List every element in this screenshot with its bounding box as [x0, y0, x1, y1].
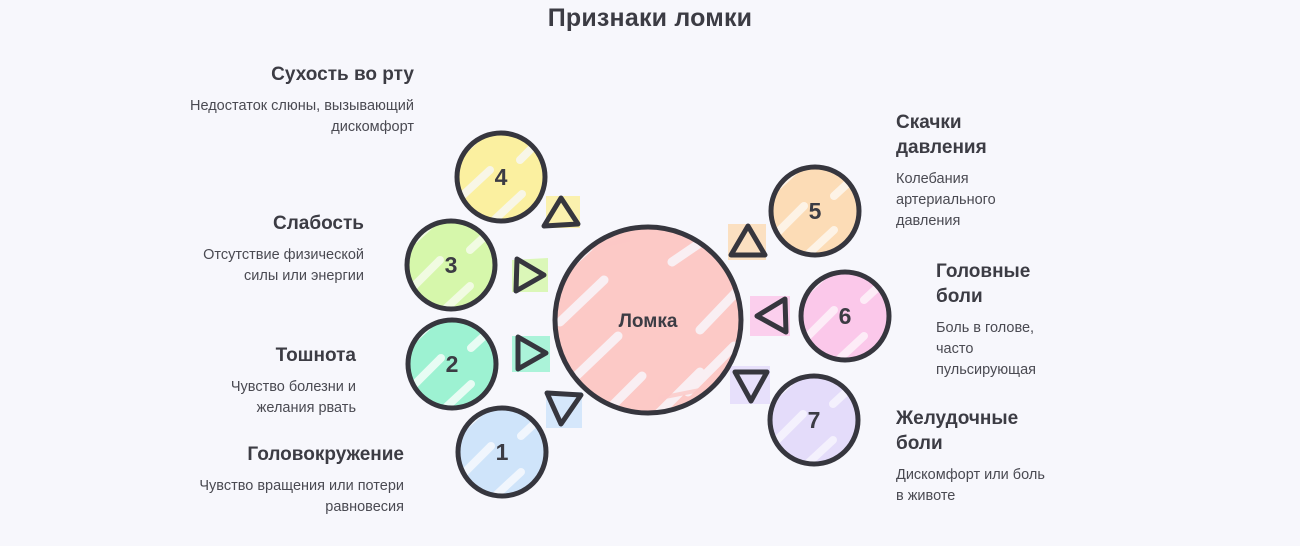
node-number: 1: [496, 439, 509, 465]
center-label: Ломка: [619, 311, 678, 332]
node-number: 5: [809, 198, 822, 224]
node-number: 3: [445, 252, 458, 278]
node-circle-6[interactable]: 6: [801, 264, 890, 362]
node-number: 6: [839, 303, 852, 329]
infographic-canvas: Признаки ломки Сухость во рту Недостаток…: [0, 0, 1300, 546]
node-number: 7: [808, 407, 821, 433]
node-number: 2: [446, 351, 459, 377]
node-number: 4: [495, 164, 508, 190]
node-circle-2[interactable]: 2: [408, 312, 497, 410]
center-node[interactable]: Ломка: [555, 226, 742, 420]
node-circle-4[interactable]: 4: [457, 124, 546, 222]
node-circle-5[interactable]: 5: [771, 160, 860, 256]
diagram-graphics: Ломка 4: [0, 0, 1300, 546]
node-circle-1[interactable]: 1: [458, 400, 547, 498]
node-circle-3[interactable]: 3: [407, 214, 496, 312]
node-circle-7[interactable]: 7: [770, 368, 859, 466]
